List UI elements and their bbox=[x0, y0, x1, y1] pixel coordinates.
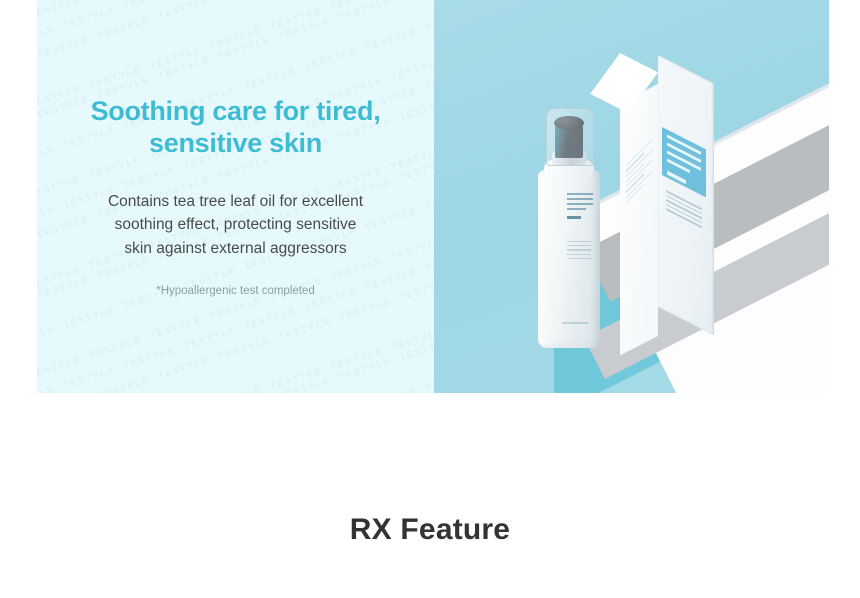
text-line bbox=[567, 258, 591, 259]
banner-headline-line-1: Soothing care for tired, bbox=[91, 96, 381, 126]
carton-box-side-face bbox=[620, 84, 658, 355]
text-line bbox=[567, 249, 591, 250]
product-photo bbox=[434, 0, 829, 393]
section-heading: RX Feature bbox=[0, 513, 860, 547]
watermark-row: TESTYLE TESTYLE TESTYLE TESTYLE TESTYLE … bbox=[37, 346, 434, 393]
watermark-row: TESTYLE TESTYLE TESTYLE TESTYLE TESTYLE … bbox=[37, 308, 434, 393]
banner-copy-panel: TESTYLE TESTYLE TESTYLE TESTYLE TESTYLE … bbox=[37, 0, 434, 393]
bottle-clear-cap bbox=[546, 108, 594, 166]
text-line bbox=[626, 171, 652, 199]
banner-headline-line-2: sensitive skin bbox=[149, 128, 322, 158]
banner-body-line-1: Contains tea tree leaf oil for excellent bbox=[108, 193, 363, 210]
bottle-sub-text bbox=[565, 238, 593, 268]
product-banner: TESTYLE TESTYLE TESTYLE TESTYLE TESTYLE … bbox=[37, 0, 829, 393]
text-line bbox=[567, 241, 591, 242]
watermark-row: TESTYLE TESTYLE TESTYLE TESTYLE TESTYLE … bbox=[37, 294, 434, 393]
bottle-volume-text bbox=[562, 322, 588, 324]
banner-body-copy: Contains tea tree leaf oil for excellent… bbox=[51, 190, 420, 261]
banner-body-line-2: soothing effect, protecting sensitive bbox=[115, 216, 357, 233]
carton-box bbox=[620, 55, 714, 320]
label-line bbox=[567, 198, 593, 200]
banner-body-line-3: skin against external aggressors bbox=[124, 240, 346, 257]
bottle-label bbox=[565, 190, 595, 228]
carton-box-side-text bbox=[624, 133, 654, 274]
text-line bbox=[666, 199, 702, 219]
label-line bbox=[567, 208, 586, 210]
label-brand-line bbox=[567, 216, 581, 219]
text-line bbox=[567, 254, 591, 255]
banner-footnote: *Hypoallergenic test completed bbox=[51, 285, 420, 297]
label-line bbox=[567, 203, 593, 205]
product-detail-page: TESTYLE TESTYLE TESTYLE TESTYLE TESTYLE … bbox=[0, 0, 860, 598]
label-line bbox=[567, 193, 593, 195]
banner-copy-inner: Soothing care for tired, sensitive skin … bbox=[37, 0, 434, 297]
lotion-bottle bbox=[538, 108, 600, 348]
banner-headline: Soothing care for tired, sensitive skin bbox=[49, 96, 422, 160]
text-line bbox=[567, 245, 591, 246]
